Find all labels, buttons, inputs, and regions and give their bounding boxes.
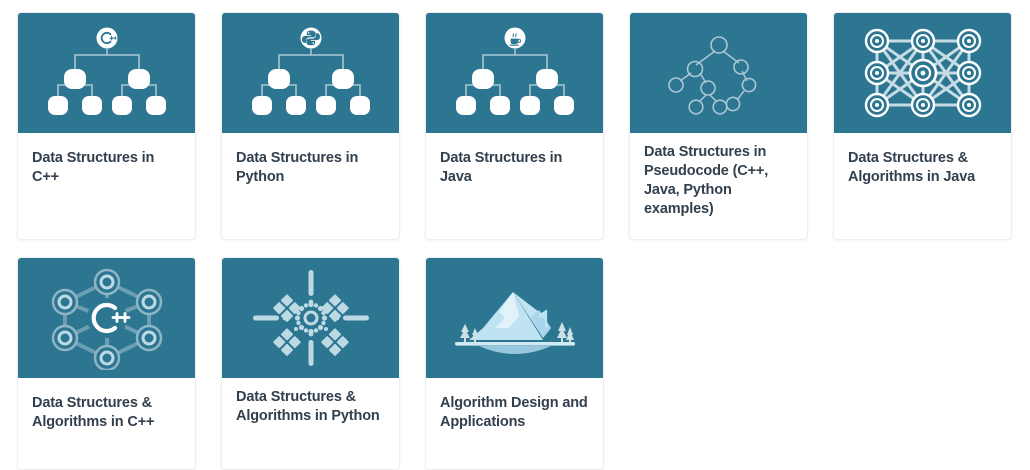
radial-dot-ring <box>294 302 326 334</box>
course-card-data-structures-java[interactable]: Data Structures in Java <box>425 12 604 240</box>
mesh-node-center <box>910 60 936 86</box>
hexagon-network-cpp-icon <box>31 266 183 370</box>
course-card-grid: Data Structures in C++ <box>17 12 1030 470</box>
hex-node <box>95 346 119 370</box>
binary-tree-cpp-icon <box>32 23 182 123</box>
mesh-node <box>866 30 888 52</box>
course-card-dsa-python[interactable]: Data Structures & Algorithms in Python <box>221 257 400 470</box>
course-card-data-structures-cpp[interactable]: Data Structures in C++ <box>17 12 196 240</box>
course-card-body: Data Structures in Python <box>222 133 399 239</box>
course-card-dsa-cpp[interactable]: Data Structures & Algorithms in C++ <box>17 257 196 470</box>
mountain-peaks <box>469 292 551 340</box>
outline-binary-tree-icon <box>644 23 794 123</box>
binary-tree-python-icon <box>236 23 386 123</box>
course-thumbnail <box>426 258 603 378</box>
hex-node <box>95 270 119 294</box>
course-title: Data Structures in C++ <box>32 149 181 187</box>
mountain-landscape-icon <box>439 266 591 370</box>
course-thumbnail <box>630 13 807 133</box>
course-title: Data Structures & Algorithms in Java <box>848 149 997 187</box>
hex-node <box>137 290 161 314</box>
mesh-network-grid-icon <box>847 21 999 125</box>
mesh-node <box>912 94 934 116</box>
mesh-node <box>866 62 888 84</box>
course-card-body: Data Structures in Pseudocode (C++, Java… <box>630 133 807 239</box>
mesh-node <box>958 94 980 116</box>
course-thumbnail <box>222 13 399 133</box>
course-title: Data Structures in Java <box>440 149 589 187</box>
course-title: Data Structures & Algorithms in Python <box>236 388 385 426</box>
mesh-node <box>866 94 888 116</box>
course-card-data-structures-python[interactable]: Data Structures in Python <box>221 12 400 240</box>
course-card-algorithm-design[interactable]: Algorithm Design and Applications <box>425 257 604 470</box>
course-card-body: Data Structures & Algorithms in C++ <box>18 378 195 469</box>
course-card-body: Data Structures in Java <box>426 133 603 239</box>
course-thumbnail <box>18 258 195 378</box>
hex-node <box>53 326 77 350</box>
course-card-body: Data Structures & Algorithms in Python <box>222 378 399 469</box>
course-card-dsa-java[interactable]: Data Structures & Algorithms in Java <box>833 12 1012 240</box>
lake <box>455 342 575 354</box>
course-thumbnail <box>18 13 195 133</box>
course-title: Data Structures in Python <box>236 149 385 187</box>
mesh-node <box>958 62 980 84</box>
course-title: Algorithm Design and Applications <box>440 394 589 432</box>
hex-node <box>137 326 161 350</box>
mesh-node <box>912 30 934 52</box>
cpp-logo-center <box>87 298 129 338</box>
course-thumbnail <box>834 13 1011 133</box>
course-card-body: Data Structures in C++ <box>18 133 195 239</box>
course-title: Data Structures & Algorithms in C++ <box>32 394 181 432</box>
radial-snowflake-icon <box>235 266 387 370</box>
hex-node <box>53 290 77 314</box>
course-title: Data Structures in Pseudocode (C++, Java… <box>644 143 793 220</box>
course-thumbnail <box>222 258 399 378</box>
course-thumbnail <box>426 13 603 133</box>
binary-tree-java-icon <box>440 23 590 123</box>
course-card-body: Algorithm Design and Applications <box>426 378 603 469</box>
course-card-body: Data Structures & Algorithms in Java <box>834 133 1011 239</box>
course-card-data-structures-pseudocode[interactable]: Data Structures in Pseudocode (C++, Java… <box>629 12 808 240</box>
card-grid-board: Data Structures in C++ <box>0 0 1030 470</box>
mesh-node <box>958 30 980 52</box>
